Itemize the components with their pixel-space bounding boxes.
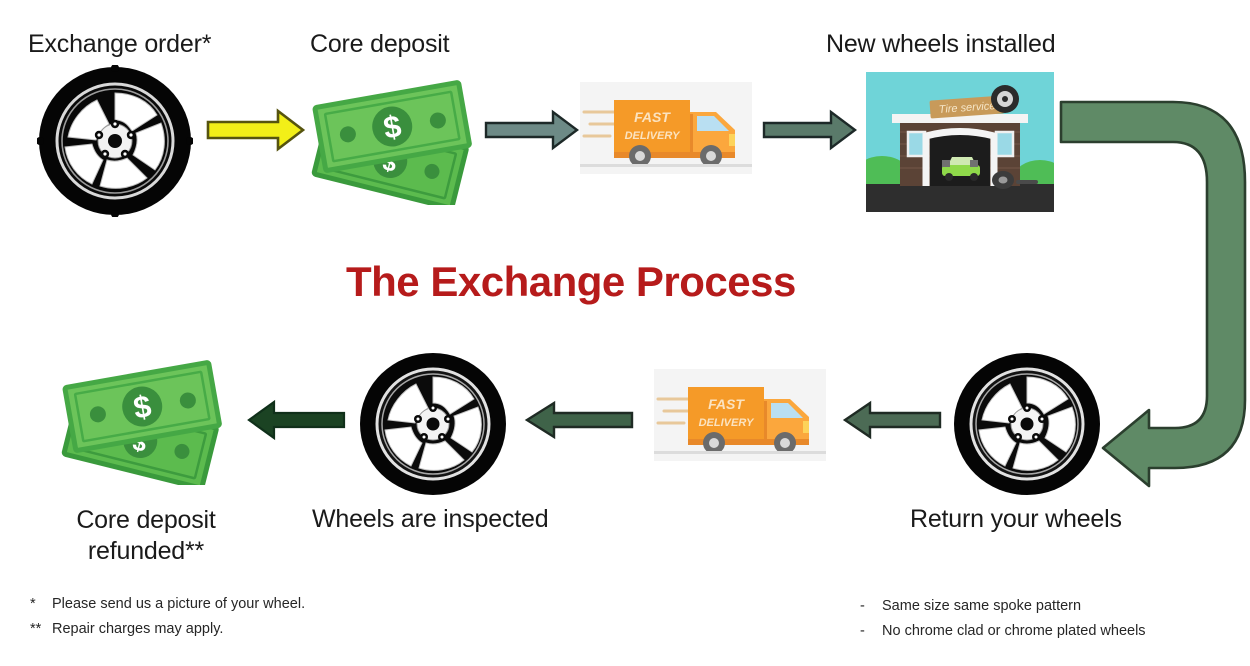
- step-label-return-your-wheels: Return your wheels: [910, 505, 1122, 534]
- footnote-text: No chrome clad or chrome plated wheels: [882, 623, 1146, 639]
- arrow-truck-to-shop: [762, 108, 858, 152]
- arrow-truck-to-inspected: [524, 400, 634, 440]
- alloy-wheel-icon: [37, 65, 193, 217]
- svg-text:DELIVERY: DELIVERY: [699, 417, 755, 429]
- step-label-wheels-inspected: Wheels are inspected: [312, 505, 548, 534]
- svg-text:FAST: FAST: [708, 396, 745, 412]
- step-label-core-deposit-refunded: Core deposit refunded**: [30, 505, 262, 568]
- step-label-exchange-order: Exchange order*: [28, 30, 211, 59]
- arrow-order-to-deposit: [206, 108, 306, 152]
- footnote-text: Same size same spoke pattern: [882, 598, 1081, 614]
- footnote-left-2: **Repair charges may apply.: [30, 621, 223, 637]
- alloy-wheel-icon-inspected: [358, 351, 508, 497]
- arrow-return-to-truck: [842, 400, 942, 440]
- money-icon: $ $: [305, 70, 485, 205]
- svg-text:FAST: FAST: [634, 109, 671, 125]
- page-title: The Exchange Process: [346, 258, 796, 306]
- arrow-deposit-to-truck: [484, 108, 580, 152]
- alloy-wheel-icon-return: [952, 351, 1102, 497]
- delivery-truck-icon: FAST DELIVERY: [580, 82, 752, 174]
- svg-text:DELIVERY: DELIVERY: [625, 130, 681, 142]
- footnote-mark: -: [860, 623, 882, 639]
- arrow-inspected-to-refund: [246, 400, 346, 440]
- money-icon-refund: $ $: [55, 350, 235, 485]
- footnote-mark: *: [30, 596, 52, 612]
- exchange-process-diagram: Exchange order* Core deposit New wheels …: [0, 0, 1250, 666]
- step-label-new-wheels-installed: New wheels installed: [826, 30, 1055, 59]
- footnote-mark: **: [30, 621, 52, 637]
- delivery-truck-icon-return: FAST DELIVERY: [654, 369, 826, 461]
- footnote-right-2: -No chrome clad or chrome plated wheels: [860, 623, 1146, 639]
- footnote-text: Please send us a picture of your wheel.: [52, 596, 305, 612]
- footnote-right-1: -Same size same spoke pattern: [860, 598, 1081, 614]
- tire-service-shop-icon: Tire service: [866, 72, 1054, 212]
- footnote-text: Repair charges may apply.: [52, 621, 223, 637]
- footnote-mark: -: [860, 598, 882, 614]
- step-label-core-deposit: Core deposit: [310, 30, 449, 59]
- footnote-left-1: *Please send us a picture of your wheel.: [30, 596, 305, 612]
